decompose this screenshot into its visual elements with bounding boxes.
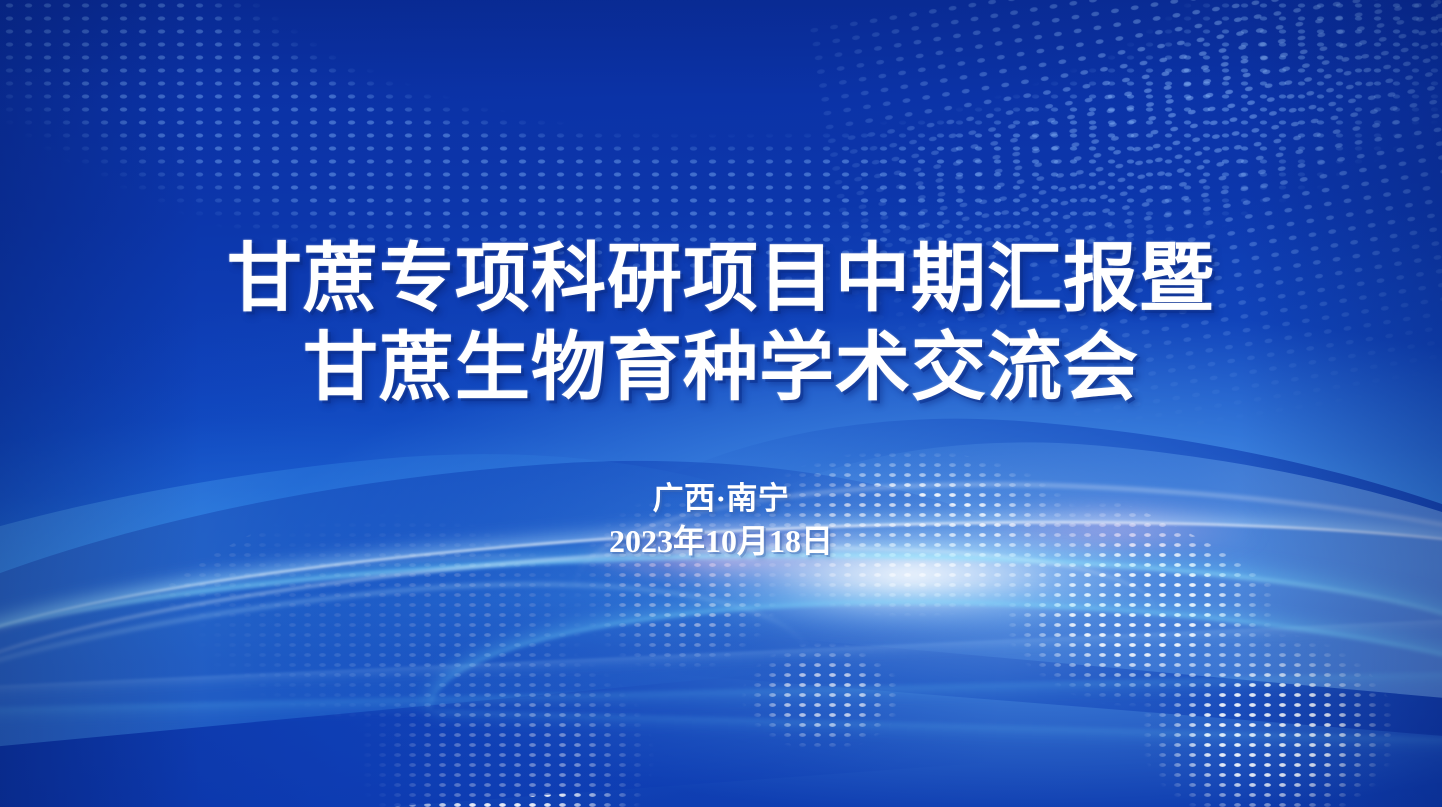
title-line-2: 甘蔗生物育种学术交流会 [0, 325, 1442, 414]
subtitle-block: 广西·南宁 2023年10月18日 [0, 478, 1442, 562]
title-line-1: 甘蔗专项科研项目中期汇报暨 [0, 236, 1442, 325]
title-slide: 甘蔗专项科研项目中期汇报暨 甘蔗生物育种学术交流会 广西·南宁 2023年10月… [0, 0, 1442, 807]
title-block: 甘蔗专项科研项目中期汇报暨 甘蔗生物育种学术交流会 [0, 236, 1442, 413]
subtitle-date: 2023年10月18日 [0, 520, 1442, 563]
subtitle-location: 广西·南宁 [0, 478, 1442, 520]
